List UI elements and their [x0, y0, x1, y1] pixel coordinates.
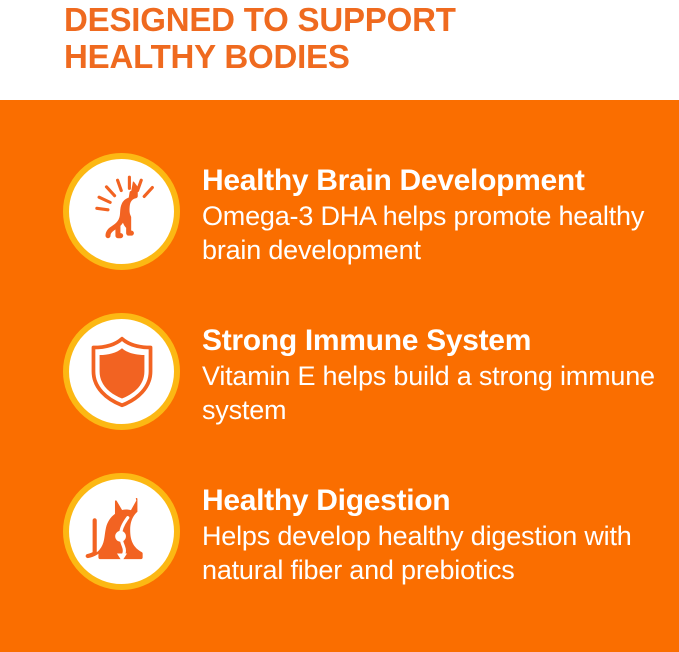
cat-digestion-icon — [84, 495, 160, 569]
benefit-title: Strong Immune System — [202, 323, 672, 358]
benefit-title: Healthy Brain Development — [202, 163, 672, 198]
shield-icon — [88, 336, 156, 408]
benefit-item: Healthy Brain Development Omega-3 DHA he… — [0, 153, 679, 270]
benefit-text: Healthy Digestion Helps develop healthy … — [202, 473, 672, 587]
benefit-icon-badge — [63, 473, 180, 590]
benefit-description: Omega-3 DHA helps promote healthy brain … — [202, 199, 672, 267]
benefit-icon-badge — [63, 153, 180, 270]
benefit-text: Healthy Brain Development Omega-3 DHA he… — [202, 153, 672, 267]
benefit-icon-badge — [63, 313, 180, 430]
benefit-title: Healthy Digestion — [202, 483, 672, 518]
benefit-item: Strong Immune System Vitamin E helps bui… — [0, 313, 679, 430]
benefit-description: Helps develop healthy digestion with nat… — [202, 519, 672, 587]
cat-brain-rays-icon — [85, 175, 159, 249]
header-band: DESIGNED TO SUPPORT HEALTHY BODIES — [0, 0, 679, 100]
benefit-item: Healthy Digestion Helps develop healthy … — [0, 473, 679, 590]
benefit-text: Strong Immune System Vitamin E helps bui… — [202, 313, 672, 427]
promo-graphic: DESIGNED TO SUPPORT HEALTHY BODIES — [0, 0, 679, 652]
benefit-description: Vitamin E helps build a strong immune sy… — [202, 359, 672, 427]
benefits-panel: Healthy Brain Development Omega-3 DHA he… — [0, 100, 679, 652]
page-title: DESIGNED TO SUPPORT HEALTHY BODIES — [64, 1, 624, 75]
